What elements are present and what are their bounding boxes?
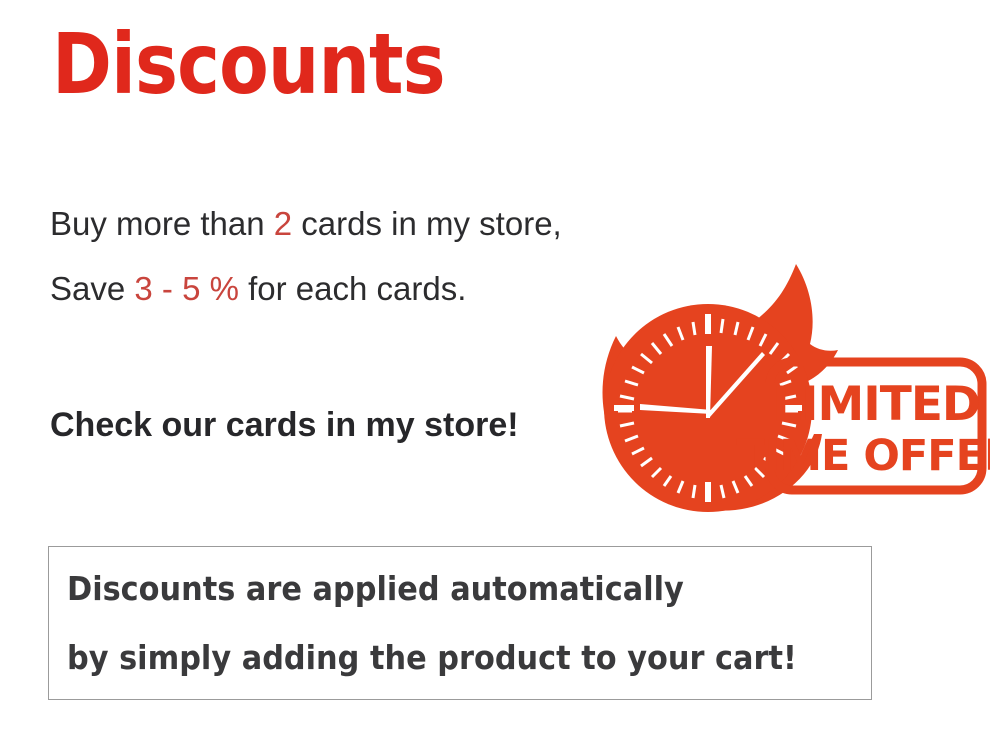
discount-promo-card: Discounts Buy more than 2 cards in my st… [0,0,1000,755]
notice-line-1: Discounts are applied automatically [67,570,684,608]
savings-prefix-text: Save [50,270,134,307]
limited-time-offer-icon: LIMITED TIME OFFER [600,262,990,520]
discount-condition-line: Buy more than 2 cards in my store, [50,205,562,243]
condition-suffix-text: cards in my store, [292,205,562,242]
flame-clock-badge-svg: LIMITED TIME OFFER [600,262,990,520]
savings-percent-value: 3 - 5 % [134,270,239,307]
condition-quantity-value: 2 [274,205,292,242]
savings-suffix-text: for each cards. [239,270,466,307]
store-call-to-action: Check our cards in my store! [50,405,519,445]
page-title: Discounts [52,16,445,112]
limited-time-offer-badge: LIMITED TIME OFFER [736,362,990,490]
badge-line-2: TIME OFFER [736,431,990,481]
notice-line-2: by simply adding the product to your car… [67,639,797,677]
condition-prefix-text: Buy more than [50,205,274,242]
auto-discount-notice-box: Discounts are applied automatically by s… [48,546,872,700]
badge-line-1: LIMITED [772,377,980,432]
discount-savings-line: Save 3 - 5 % for each cards. [50,270,466,308]
